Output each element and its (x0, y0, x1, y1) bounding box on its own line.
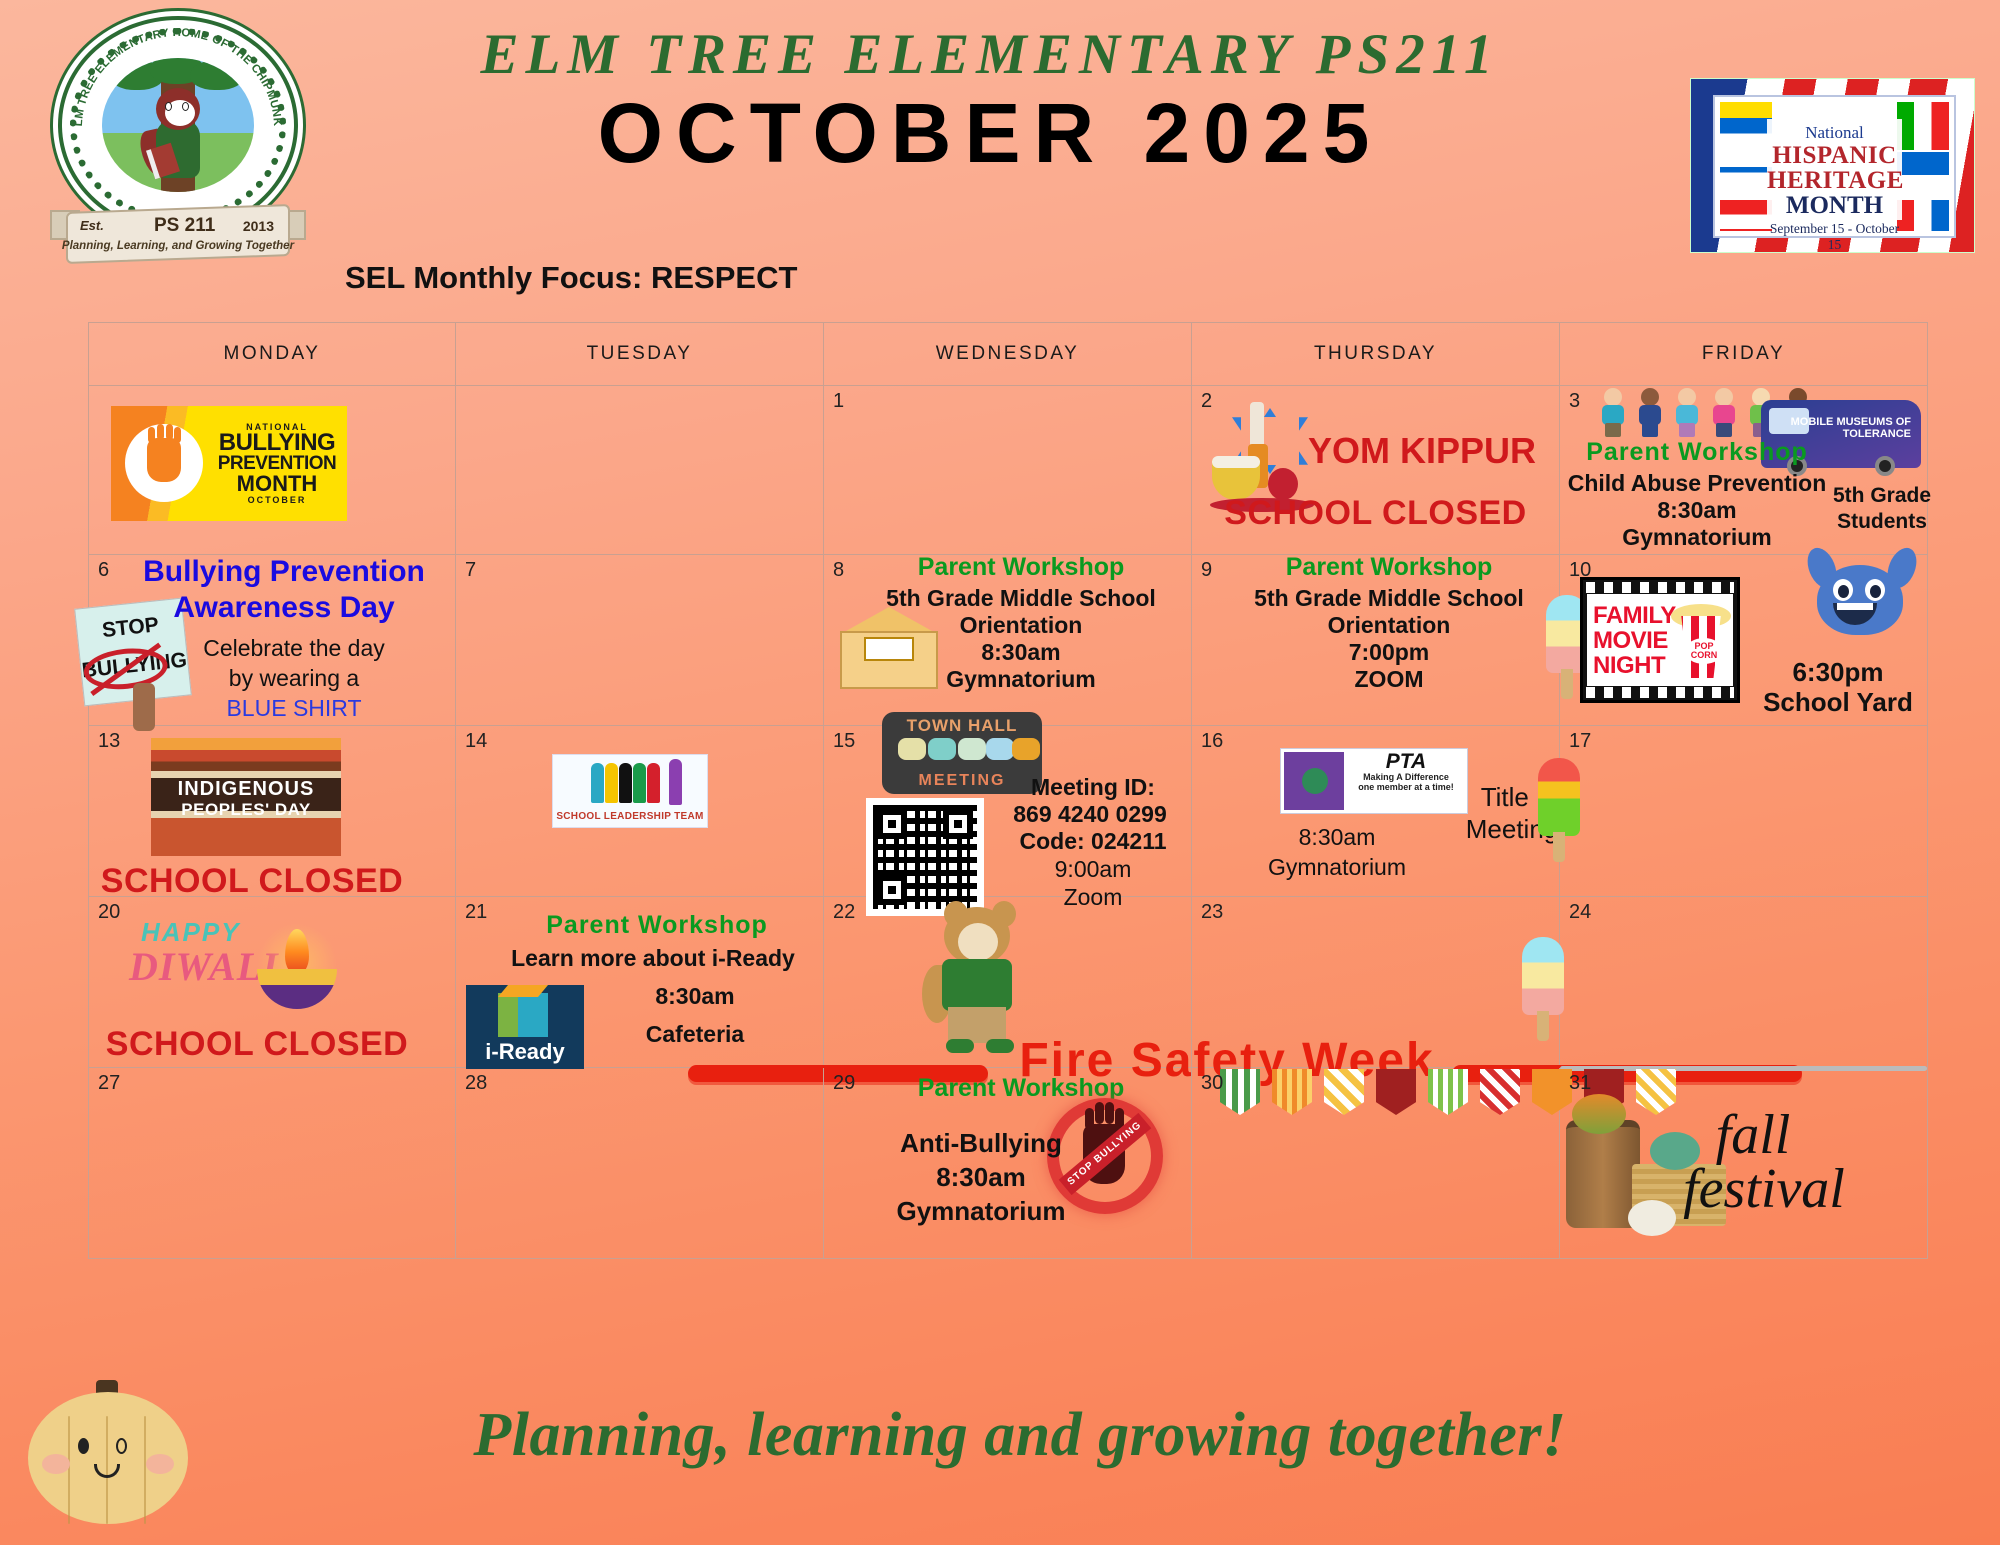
popsicle-icon (1522, 937, 1564, 1041)
movie-line3: NIGHT (1593, 653, 1676, 678)
page-header: ELM TREE ELEMENTARY HOME OF THE CHIPMUNK… (0, 0, 2000, 318)
calendar-week-row: 13 INDIGENOUS PEOPLES' DAY SCHOOL CLOSED… (88, 726, 1928, 897)
day-number: 27 (98, 1072, 120, 1095)
movie-line1: FAMILY (1593, 603, 1676, 628)
fall-festival-title: fall festival (1603, 1110, 1903, 1218)
family-movie-night-poster: FAMILY MOVIE NIGHT POP CORN (1580, 577, 1740, 703)
hhm-line-heritage: HERITAGE (1767, 168, 1902, 193)
calendar-week-row: NATIONAL BULLYING PREVENTION MONTH OCTOB… (88, 386, 1928, 555)
hhm-line-hispanic: HISPANIC (1767, 143, 1902, 168)
day-number: 31 (1569, 1072, 1591, 1095)
event-detail: Meeting ID: (994, 774, 1192, 801)
dow-label: MONDAY (224, 343, 321, 365)
pta-title: PTA (1349, 752, 1463, 772)
day-number: 21 (465, 901, 487, 924)
event-detail: Child Abuse Prevention (1552, 470, 1842, 497)
seal-motto: Planning, Learning, and Growing Together (50, 240, 306, 252)
day-cell-8[interactable]: 8 Parent Workshop 5th Grade Middle Schoo… (824, 555, 1192, 725)
event-detail: 7:00pm (1218, 639, 1560, 666)
blue-shirt-highlight: BLUE SHIRT (129, 693, 459, 723)
calendar-header-row: MONDAY TUESDAY WEDNESDAY THURSDAY FRIDAY (88, 323, 1928, 386)
townhall-line1: TOWN HALL (882, 716, 1042, 736)
day-cell-29[interactable]: 29 Parent Workshop STOP BULLYING Anti-Bu… (824, 1068, 1192, 1258)
day-number: 24 (1569, 901, 1591, 924)
event-detail: Code: 024211 (994, 828, 1192, 855)
day-cell-6[interactable]: 6 STOP BULLYING Bullying Prevention Awar… (88, 555, 456, 725)
event-detail: Learn more about i-Ready (482, 945, 824, 972)
hhm-line-month: MONTH (1767, 193, 1902, 219)
happy-diwali-graphic: HAPPY DIWALI (119, 913, 349, 1021)
fall-festival-line1: fall (1603, 1110, 1903, 1160)
awareness-title-line2: Awareness Day (111, 589, 457, 626)
day-number: 28 (465, 1072, 487, 1095)
event-detail: Gymnatorium (850, 666, 1192, 693)
seal-year: 2013 (243, 218, 274, 234)
school-closed-status: SCHOOL CLOSED (49, 862, 455, 901)
day-number: 8 (833, 559, 844, 582)
day-cell-23[interactable]: 23 (1192, 897, 1560, 1067)
day-cell-28[interactable]: 28 (456, 1068, 824, 1258)
dow-label: TUESDAY (587, 343, 693, 365)
calendar-grid: MONDAY TUESDAY WEDNESDAY THURSDAY FRIDAY… (88, 322, 1928, 1259)
day-number: 7 (465, 559, 476, 582)
workshop-title: Parent Workshop (1552, 438, 1842, 467)
day-number: 22 (833, 901, 855, 924)
banner-line-month: MONTH (215, 473, 339, 495)
day-cell-9[interactable]: 9 Parent Workshop 5th Grade Middle Schoo… (1192, 555, 1560, 725)
side-note-line2: Students (1818, 508, 1946, 535)
bus-label: MOBILE MUSEUMS OF TOLERANCE (1761, 416, 1911, 440)
calendar-page: ELM TREE ELEMENTARY HOME OF THE CHIPMUNK… (0, 0, 2000, 1545)
event-detail: Cafeteria (566, 1021, 824, 1048)
workshop-title: Parent Workshop (1218, 553, 1560, 582)
awareness-title-line1: Bullying Prevention (111, 553, 457, 590)
day-cell-17[interactable]: 17 (1560, 726, 1928, 896)
event-detail: Gymnatorium (1552, 524, 1842, 551)
event-detail: 8:30am (840, 1164, 1122, 1191)
movie-line2: MOVIE (1593, 628, 1676, 653)
popsicle-icon (1538, 758, 1580, 862)
hhm-dates: September 15 - October 15 (1767, 221, 1902, 253)
event-detail: 5th Grade Middle School (1218, 585, 1560, 612)
day-cell-2[interactable]: 2 YOM KIPPUR SCHOOL CLOSED (1192, 386, 1560, 554)
calendar-week-row: 6 STOP BULLYING Bullying Prevention Awar… (88, 555, 1928, 726)
sel-monthly-focus: SEL Monthly Focus: RESPECT (345, 260, 797, 296)
event-detail: Orientation (1218, 612, 1560, 639)
dow-label: FRIDAY (1702, 343, 1785, 365)
day-number: 2 (1201, 390, 1212, 413)
event-detail: 8:30am (566, 983, 824, 1010)
school-name-title: ELM TREE ELEMENTARY PS211 (300, 22, 1680, 87)
seal-illustration (102, 58, 254, 192)
month-year-title: OCTOBER 2025 (300, 85, 1680, 182)
slt-label: SCHOOL LEADERSHIP TEAM (553, 811, 707, 822)
day-cell-1[interactable]: 1 (824, 386, 1192, 554)
day-number: 6 (98, 559, 109, 582)
day-cell-20[interactable]: 20 HAPPY DIWALI SCHOOL CLOSED (88, 897, 456, 1067)
day-cell-10[interactable]: 10 FAMILY MOVIE NIGHT (1560, 555, 1928, 725)
dow-header-thursday: THURSDAY (1192, 323, 1560, 385)
school-leadership-team-logo: SCHOOL LEADERSHIP TEAM (552, 754, 708, 828)
day-number: 16 (1201, 730, 1223, 753)
event-detail: 869 4240 0299 (988, 801, 1192, 828)
day-cell-7[interactable]: 7 (456, 555, 824, 725)
indigenous-line2: PEOPLES' DAY (151, 800, 341, 820)
event-detail: 8:30am (1552, 497, 1842, 524)
chipmunk-mascot-icon (148, 88, 208, 184)
stitch-character-icon (1803, 557, 1921, 655)
day-cell-22[interactable]: 22 Fire Safety Week (824, 897, 1192, 1067)
hhm-line-national: National (1767, 123, 1902, 143)
smiling-pumpkin-icon (28, 1380, 198, 1530)
indigenous-peoples-day-banner: INDIGENOUS PEOPLES' DAY (151, 738, 341, 856)
day-number: 20 (98, 901, 120, 924)
day-cell-13[interactable]: 13 INDIGENOUS PEOPLES' DAY SCHOOL CLOSED (88, 726, 456, 896)
title-block: ELM TREE ELEMENTARY PS211 OCTOBER 2025 (300, 22, 1680, 182)
day-number: 14 (465, 730, 487, 753)
day-number: 10 (1569, 559, 1591, 582)
fall-festival-line2: festival (1625, 1160, 1903, 1218)
day-number: 1 (833, 390, 844, 413)
side-note-line1: 5th Grade (1818, 482, 1946, 509)
day-number: 17 (1569, 730, 1591, 753)
event-detail: Orientation (850, 612, 1192, 639)
event-detail: by wearing a (129, 663, 459, 693)
yom-kippur-icon (1210, 408, 1320, 508)
event-detail: 5th Grade Middle School (850, 585, 1192, 612)
day-number: 3 (1569, 390, 1580, 413)
popcorn-label: POP CORN (1685, 638, 1723, 664)
event-detail: Gymnatorium (840, 1198, 1122, 1225)
day-number: 29 (833, 1072, 855, 1095)
day-cell-blank-w1-mon[interactable]: NATIONAL BULLYING PREVENTION MONTH OCTOB… (88, 386, 456, 554)
dow-label: THURSDAY (1314, 343, 1437, 365)
day-number: 13 (98, 730, 120, 753)
day-cell-21[interactable]: 21 i-Ready Parent Workshop Learn more ab… (456, 897, 824, 1067)
bullying-prevention-month-banner: NATIONAL BULLYING PREVENTION MONTH OCTOB… (111, 406, 347, 521)
event-detail: 8:30am (1222, 822, 1452, 852)
day-cell-24[interactable]: 24 (1560, 897, 1928, 1067)
event-detail: Gymnatorium (1222, 852, 1452, 882)
school-closed-status: SCHOOL CLOSED (1192, 494, 1559, 533)
day-cell-14[interactable]: 14 SCHOOL LEADERSHIP TEAM (456, 726, 824, 896)
dow-header-tuesday: TUESDAY (456, 323, 824, 385)
day-number: 9 (1201, 559, 1212, 582)
calendar-week-row: 27 28 29 Parent Workshop STOP BULLYING A… (88, 1068, 1928, 1259)
hispanic-heritage-month-badge: National HISPANIC HERITAGE MONTH Septemb… (1690, 78, 1975, 253)
workshop-title: Parent Workshop (850, 553, 1192, 582)
calendar-week-row: 20 HAPPY DIWALI SCHOOL CLOSED 21 i-Ready… (88, 897, 1928, 1068)
dow-label: WEDNESDAY (936, 343, 1080, 365)
day-cell-15[interactable]: 15 TOWN HALL MEETING Meeting ID: (824, 726, 1192, 896)
day-cell-31[interactable]: 31 fall (1560, 1068, 1928, 1258)
day-cell-3[interactable]: 3 MOBILE MUSEUMS OF TOLERANCE Parent Wor… (1560, 386, 1928, 554)
day-number: 15 (833, 730, 855, 753)
event-detail: School Yard (1748, 689, 1928, 716)
banner-october-label: OCTOBER (215, 495, 339, 505)
day-cell-27[interactable]: 27 (88, 1068, 456, 1258)
footer-tagline: Planning, learning and growing together! (240, 1400, 1800, 1471)
seal-school-id: PS 211 (154, 215, 215, 237)
seal-banner: Est. PS 211 2013 Planning, Learning, and… (50, 204, 306, 266)
event-detail: 6:30pm (1748, 659, 1928, 686)
banner-line-bullying: BULLYING (215, 432, 339, 454)
school-closed-status: SCHOOL CLOSED (59, 1025, 455, 1064)
day-number: 30 (1201, 1072, 1223, 1095)
dow-header-monday: MONDAY (88, 323, 456, 385)
pta-logo: PTA Making A Difference one member at a … (1280, 748, 1468, 814)
event-detail: 9:00am (994, 854, 1192, 884)
diya-lamp-icon (251, 923, 343, 1013)
event-detail: ZOOM (1218, 666, 1560, 693)
day-cell-blank-w1-tue[interactable] (456, 386, 824, 554)
indigenous-line1: INDIGENOUS (151, 778, 341, 801)
workshop-title: Parent Workshop (490, 911, 824, 940)
seal-est-label: Est. (80, 218, 104, 233)
day-number: 23 (1201, 901, 1223, 924)
day-cell-16[interactable]: 16 PTA Making A Difference one member at… (1192, 726, 1560, 896)
pta-line1: Making A Difference (1349, 772, 1463, 782)
event-detail: Anti-Bullying (840, 1130, 1122, 1157)
event-detail: Celebrate the day (129, 633, 459, 663)
dow-header-friday: FRIDAY (1560, 323, 1928, 385)
yom-kippur-title: YOM KIPPUR (1308, 430, 1559, 472)
school-seal-logo: ELM TREE ELEMENTARY HOME OF THE CHIPMUNK… (44, 8, 314, 268)
dow-header-wednesday: WEDNESDAY (824, 323, 1192, 385)
event-detail: 8:30am (850, 639, 1192, 666)
